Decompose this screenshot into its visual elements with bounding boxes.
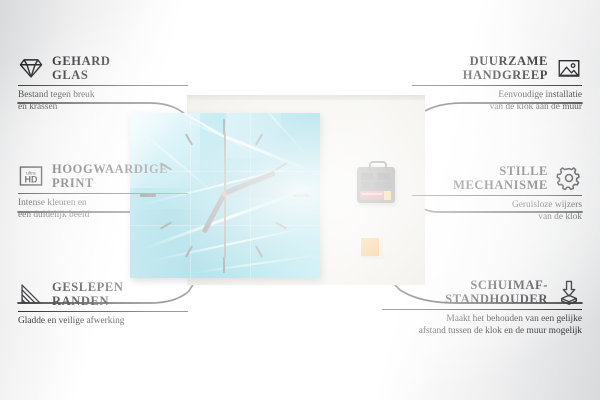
feature-desc: Gladde en veilige afwerking [18, 316, 188, 328]
feature-desc: Maakt het behouden van een gelijke [382, 314, 582, 326]
clock-center-pin [222, 192, 227, 197]
feature-desc-2: van de klok [412, 212, 582, 224]
feature-desc-2: en krassen [18, 102, 188, 114]
feature-title-2: HANDGREEP [463, 68, 548, 82]
gear-icon [556, 165, 582, 191]
infographic-canvas: GEHARD GLAS Bestand tegen breuk en krass… [0, 0, 600, 400]
bevelled-edge-icon [18, 281, 44, 307]
feature-title: GEHARD [52, 54, 110, 68]
feature-title-2: PRINT [52, 176, 168, 190]
clock-tick [223, 257, 225, 273]
foam-spacer [361, 238, 379, 256]
feature-desc: Bestand tegen breuk [18, 90, 188, 102]
feature-title: DUURZAME [463, 54, 548, 68]
feature-title-2: STANDHOUDER [445, 292, 548, 306]
feature-stille-mechanisme: STILLE MECHANISME Geruisloze wijzers van… [412, 164, 582, 223]
feature-desc: Intense kleuren en [18, 198, 188, 210]
feature-geslepen-randen: GESLEPEN RANDEN Gladde en veilige afwerk… [18, 280, 188, 328]
picture-frame-icon [556, 55, 582, 81]
divider [18, 85, 188, 86]
feature-gehard-glas: GEHARD GLAS Bestand tegen breuk en krass… [18, 54, 188, 113]
feature-title: GESLEPEN [52, 280, 124, 294]
feature-desc-2: een duidelijk beeld [18, 210, 188, 222]
divider [18, 311, 188, 312]
divider [18, 193, 188, 194]
feature-title-2: RANDEN [52, 294, 124, 308]
feature-desc-2: afstand tussen de klok en de muur mogeli… [382, 326, 582, 338]
divider [412, 85, 582, 86]
feature-desc: Eenvoudige installatie [412, 90, 582, 102]
divider [412, 195, 582, 196]
battery-plus-terminal [384, 191, 391, 200]
feature-title-2: GLAS [52, 68, 110, 82]
diamond-icon [18, 55, 44, 81]
feature-title: SCHUIMAF- [445, 278, 548, 292]
clock-mechanism [357, 167, 395, 203]
feature-title: HOOGWAARDIGE [52, 162, 168, 176]
svg-text:HD: HD [25, 175, 38, 185]
divider [382, 309, 582, 310]
clock-tick [293, 194, 309, 197]
aa-battery [360, 191, 391, 200]
feature-desc-2: van de klok aan de muur [412, 102, 582, 114]
feature-title-2: MECHANISME [453, 178, 548, 192]
ultra-hd-icon: ultra HD [18, 163, 44, 189]
feature-hoogwaardige-print: ultra HD HOOGWAARDIGE PRINT Intense kleu… [18, 162, 188, 221]
clock-tick [255, 245, 263, 257]
feature-title: STILLE [453, 164, 548, 178]
mechanism-hanger [369, 161, 387, 171]
feature-schuimafstandhouder: SCHUIMAF- STANDHOUDER Maakt het behouden… [382, 278, 582, 337]
wall-panel-top-edge [187, 95, 425, 100]
feature-desc: Geruisloze wijzers [412, 200, 582, 212]
feature-duurzame-handgreep: DUURZAME HANDGREEP Eenvoudige installati… [412, 54, 582, 113]
press-down-icon [556, 279, 582, 305]
